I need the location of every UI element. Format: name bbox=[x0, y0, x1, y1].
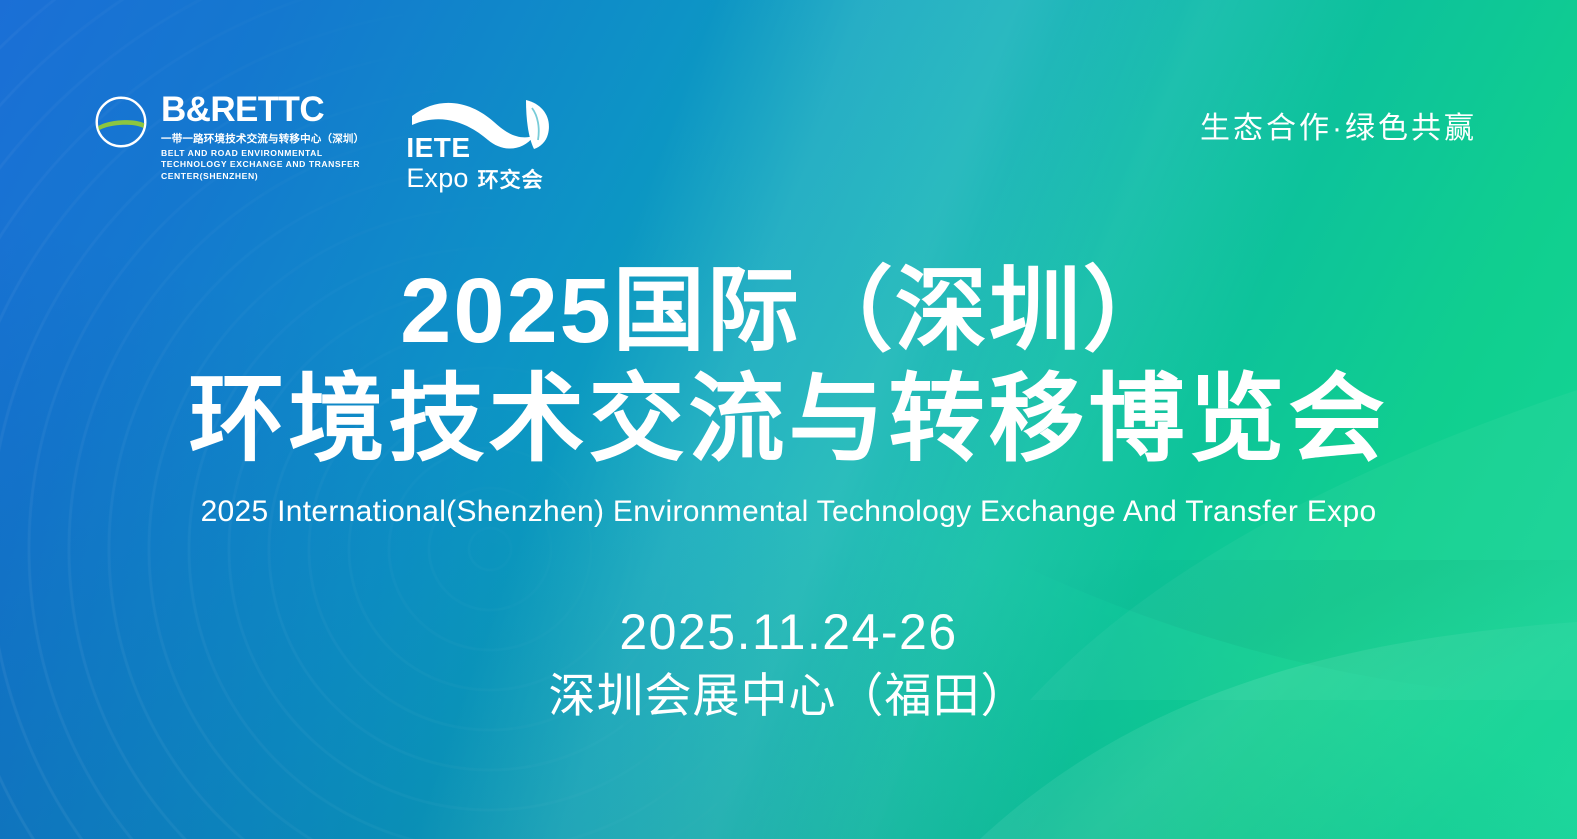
logo-iete-expo: Expo bbox=[406, 165, 468, 192]
logo-brettc: B&RETTC 一带一路环境技术交流与转移中心（深圳） BELT AND ROA… bbox=[93, 92, 364, 182]
title-en: 2025 International(Shenzhen) Environment… bbox=[0, 495, 1577, 529]
header-slogan: 生态合作·绿色共赢 bbox=[1200, 103, 1477, 147]
title-cn-line1: 2025国际（深圳） bbox=[0, 262, 1577, 361]
banner-header: B&RETTC 一带一路环境技术交流与转移中心（深圳） BELT AND ROA… bbox=[0, 0, 1577, 210]
main-title-block: 2025国际（深圳） 环境技术交流与转移博览会 2025 Internation… bbox=[0, 262, 1577, 529]
logo-iete-cn: 环交会 bbox=[478, 170, 544, 191]
event-venue: 深圳会展中心（福田） bbox=[0, 668, 1577, 723]
event-info-block: 2025.11.24-26 深圳会展中心（福田） bbox=[0, 604, 1577, 723]
logo-brettc-name-en: BELT AND ROAD ENVIRONMENTAL TECHNOLOGY E… bbox=[161, 148, 361, 182]
logo-iete: IETE Expo 环交会 bbox=[406, 92, 556, 190]
event-date: 2025.11.24-26 bbox=[0, 604, 1577, 660]
logo-iete-text: IETE Expo 环交会 bbox=[406, 134, 543, 192]
logo-iete-line2: Expo 环交会 bbox=[406, 165, 543, 192]
logo-iete-line1: IETE bbox=[406, 134, 543, 162]
logo-group: B&RETTC 一带一路环境技术交流与转移中心（深圳） BELT AND ROA… bbox=[93, 92, 556, 190]
logo-brettc-text: B&RETTC 一带一路环境技术交流与转移中心（深圳） BELT AND ROA… bbox=[161, 92, 364, 182]
expo-banner: B&RETTC 一带一路环境技术交流与转移中心（深圳） BELT AND ROA… bbox=[0, 0, 1577, 839]
title-cn-line2: 环境技术交流与转移博览会 bbox=[0, 367, 1577, 473]
globe-ellipse-icon bbox=[93, 94, 149, 150]
logo-brettc-name-cn: 一带一路环境技术交流与转移中心（深圳） bbox=[161, 131, 364, 146]
logo-brettc-wordmark: B&RETTC bbox=[161, 92, 364, 127]
